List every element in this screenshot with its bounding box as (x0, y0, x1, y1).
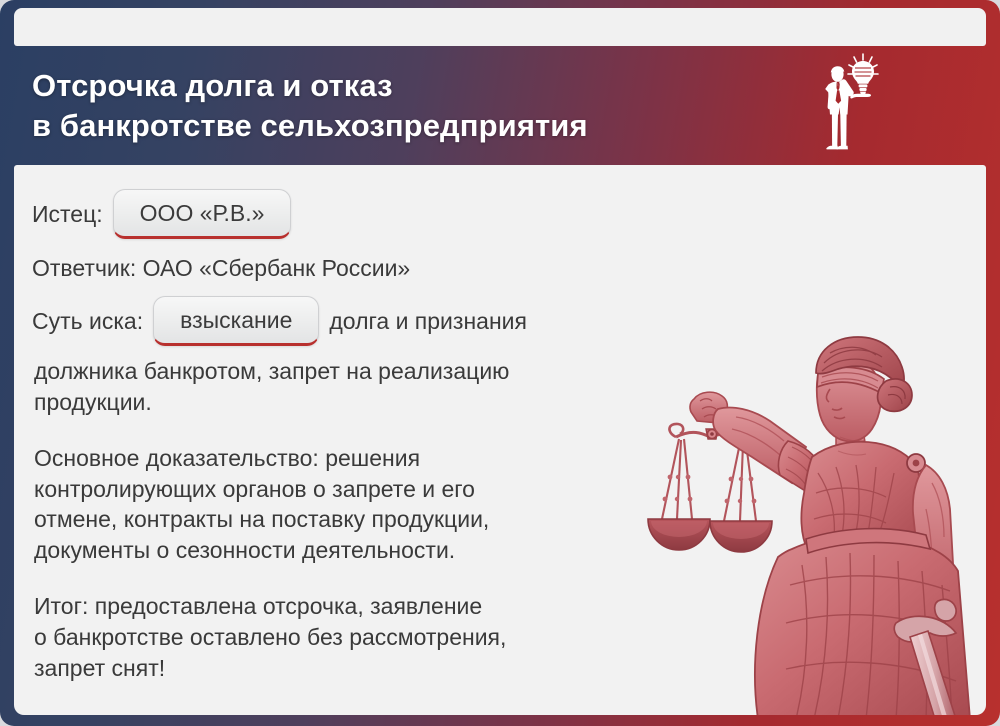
content-panel: Истец: ООО «Р.В.» Ответчик: ОАО «Сбербан… (14, 165, 986, 715)
case-details: Истец: ООО «Р.В.» Ответчик: ОАО «Сбербан… (14, 165, 986, 683)
claim-body-text: должника банкротом, запрет на реализацию… (34, 356, 674, 417)
infographic-card: Отсрочка долга и отказ в банкротстве сел… (0, 0, 1000, 726)
result-text: Итог: предоставлена отсрочка, заявление … (34, 591, 674, 683)
plaintiff-pill[interactable]: ООО «Р.В.» (113, 189, 292, 239)
businessman-with-lightbulb-icon (806, 48, 882, 166)
defendant-row: Ответчик: ОАО «Сбербанк России» (32, 255, 986, 282)
evidence-text: Основное доказательство: решения контрол… (34, 443, 674, 565)
claim-type-pill[interactable]: взыскание (153, 296, 319, 346)
defendant-label: Ответчик: ОАО «Сбербанк России» (32, 255, 410, 282)
header-band: Отсрочка долга и отказ в банкротстве сел… (0, 46, 1000, 165)
top-strip (14, 8, 986, 46)
plaintiff-row: Истец: ООО «Р.В.» (32, 189, 986, 239)
claim-row: Суть иска: взыскание долга и признания (32, 296, 986, 346)
claim-tail-text: долга и признания (329, 308, 527, 335)
claim-label: Суть иска: (32, 308, 143, 335)
page-title: Отсрочка долга и отказ в банкротстве сел… (32, 66, 588, 145)
plaintiff-label: Истец: (32, 201, 103, 228)
